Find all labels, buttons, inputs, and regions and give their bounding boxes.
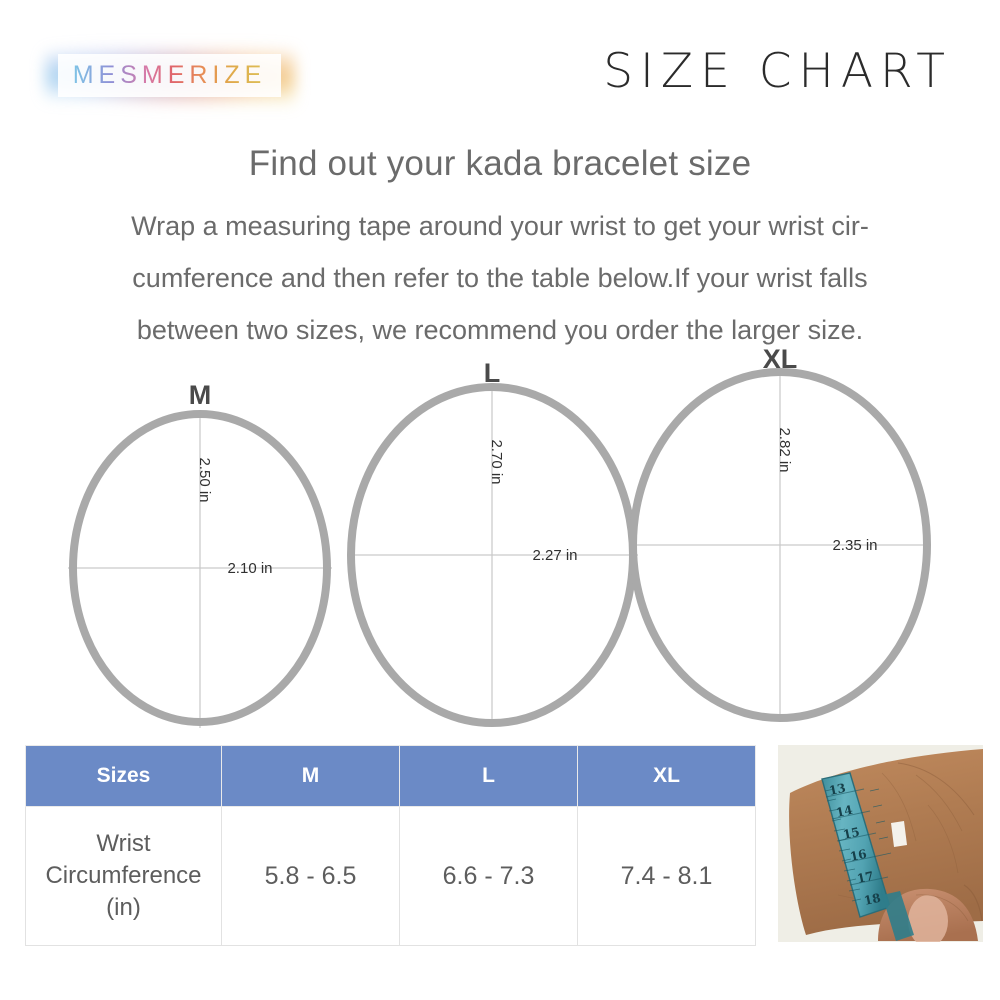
bracelet-size-diagram: M 2.10 in 2.50 in L 2.27 in 2.70 in XL 2… [0, 340, 1000, 740]
row-label-line-2: Circumference [27, 860, 220, 892]
oval-width-m: 2.10 in [227, 560, 272, 577]
intro-line-1: Wrap a measuring tape around your wrist … [48, 200, 952, 252]
oval-group-m: M 2.10 in 2.50 in [68, 380, 332, 728]
logo-text: MESMERIZE [73, 61, 267, 90]
size-chart-page: MESMERIZE SIZE CHART Find out your kada … [0, 0, 1000, 1000]
table-header-sizes: Sizes [26, 746, 222, 807]
oval-height-l: 2.70 in [488, 439, 505, 484]
row-label-line-3: (in) [27, 892, 220, 924]
oval-group-l: L 2.27 in 2.70 in [350, 358, 638, 724]
headline: Find out your kada bracelet size [0, 144, 1000, 184]
size-table: Sizes M L XL Wrist Circumference (in) 5.… [25, 745, 755, 941]
intro-line-2: cumference and then refer to the table b… [48, 252, 952, 304]
oval-label-m: M [189, 380, 212, 410]
oval-group-xl: XL 2.35 in 2.82 in [633, 344, 930, 720]
oval-label-xl: XL [763, 344, 798, 374]
cell-wrist-l: 6.6 - 7.3 [400, 807, 578, 946]
table-header-xl: XL [578, 746, 756, 807]
brand-logo: MESMERIZE [45, 45, 295, 107]
cell-wrist-xl: 7.4 - 8.1 [578, 807, 756, 946]
row-label-line-1: Wrist [27, 828, 220, 860]
oval-height-m: 2.50 in [196, 457, 213, 502]
table-row: Wrist Circumference (in) 5.8 - 6.5 6.6 -… [26, 807, 756, 946]
intro-paragraph: Wrap a measuring tape around your wrist … [48, 200, 952, 356]
oval-width-l: 2.27 in [532, 547, 577, 564]
oval-label-l: L [484, 358, 501, 388]
wrist-measuring-photo: 13 14 15 16 17 18 [778, 745, 983, 942]
page-title: SIZE CHART [603, 44, 952, 99]
row-label-wrist-circumference: Wrist Circumference (in) [26, 807, 222, 946]
oval-height-xl: 2.82 in [776, 427, 793, 472]
table-header-l: L [400, 746, 578, 807]
table-header-row: Sizes M L XL [26, 746, 756, 807]
oval-width-xl: 2.35 in [832, 537, 877, 554]
logo-plate: MESMERIZE [58, 54, 281, 97]
table-header-m: M [222, 746, 400, 807]
cell-wrist-m: 5.8 - 6.5 [222, 807, 400, 946]
